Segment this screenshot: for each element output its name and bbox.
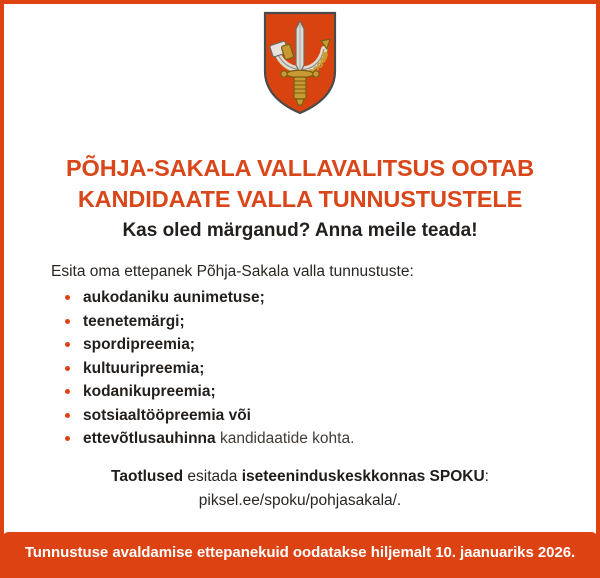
apply-service-name: iseteeninduskeskkonnas SPOKU bbox=[242, 468, 485, 485]
bullet-icon bbox=[65, 413, 70, 418]
deadline-banner: Tunnustuse avaldamise ettepanekuid oodat… bbox=[2, 532, 598, 576]
award-name: sotsiaaltööpreemia või bbox=[83, 407, 251, 424]
page-title-line-1: PÕHJA-SAKALA VALLAVALITSUS OOTAB bbox=[66, 155, 534, 181]
award-tail: kandidaatide kohta. bbox=[216, 430, 355, 447]
bullet-icon bbox=[65, 319, 70, 324]
bullet-icon bbox=[65, 295, 70, 300]
award-name: aukodaniku aunimetuse; bbox=[83, 289, 265, 306]
bullet-icon bbox=[65, 436, 70, 441]
page-subtitle: Kas oled märganud? Anna meile teada! bbox=[4, 219, 596, 243]
award-name: spordipreemia; bbox=[83, 336, 195, 353]
award-name: ettevõtlusauhinna bbox=[83, 430, 216, 447]
award-name: kodanikupreemia; bbox=[83, 383, 216, 400]
page-title: PÕHJA-SAKALA VALLAVALITSUS OOTAB KANDIDA… bbox=[4, 153, 596, 215]
list-item: teenetemärgi; bbox=[51, 312, 557, 331]
announcement-poster: PÕHJA-SAKALA VALLAVALITSUS OOTAB KANDIDA… bbox=[0, 0, 600, 578]
bullet-icon bbox=[65, 342, 70, 347]
apply-instructions: Taotlused esitada iseteeninduskeskkonnas… bbox=[4, 465, 596, 513]
apply-url[interactable]: piksel.ee/spoku/pohjasakala/. bbox=[4, 489, 596, 513]
list-item: ettevõtlusauhinna kandidaatide kohta. bbox=[51, 429, 557, 448]
apply-lead-end: : bbox=[485, 468, 489, 485]
award-name: teenetemärgi; bbox=[83, 313, 185, 330]
page-title-line-2: KANDIDAATE VALLA TUNNUSTUSTELE bbox=[4, 184, 596, 215]
list-item: kodanikupreemia; bbox=[51, 382, 557, 401]
body-content: Esita oma ettepanek Põhja-Sakala valla t… bbox=[51, 262, 557, 453]
bullet-icon bbox=[65, 366, 70, 371]
list-item: aukodaniku aunimetuse; bbox=[51, 288, 557, 307]
apply-lead-mid: esitada bbox=[183, 468, 242, 485]
crest-container bbox=[4, 11, 596, 115]
deadline-text: Tunnustuse avaldamise ettepanekuid oodat… bbox=[25, 544, 575, 561]
coat-of-arms-icon bbox=[263, 11, 337, 115]
award-name: kultuuripreemia; bbox=[83, 360, 204, 377]
apply-line: Taotlused esitada iseteeninduskeskkonnas… bbox=[111, 468, 489, 485]
list-item: spordipreemia; bbox=[51, 335, 557, 354]
list-item: sotsiaaltööpreemia või bbox=[51, 406, 557, 425]
list-item: kultuuripreemia; bbox=[51, 359, 557, 378]
awards-list: aukodaniku aunimetuse; teenetemärgi; spo… bbox=[51, 288, 557, 448]
intro-text: Esita oma ettepanek Põhja-Sakala valla t… bbox=[51, 262, 557, 282]
bullet-icon bbox=[65, 389, 70, 394]
apply-lead-bold: Taotlused bbox=[111, 468, 183, 485]
